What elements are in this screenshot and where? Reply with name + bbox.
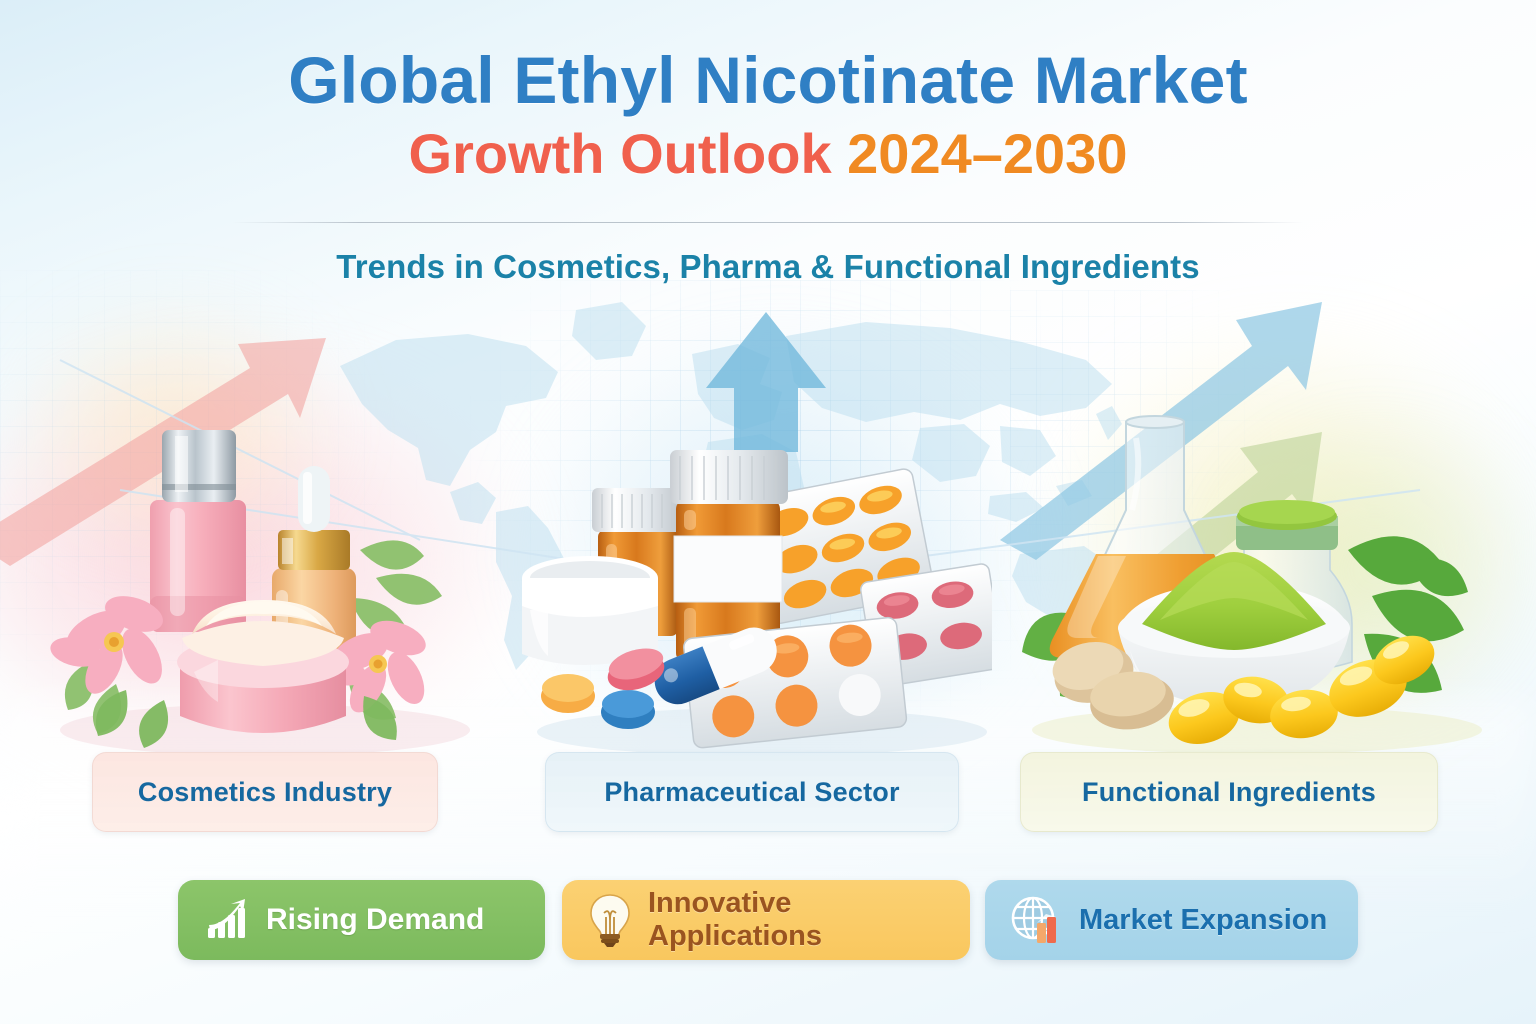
- category-label-text: Pharmaceutical Sector: [604, 777, 899, 808]
- pink-blossom-left: [48, 590, 171, 700]
- header-divider: [232, 222, 1304, 223]
- category-label-text: Functional Ingredients: [1082, 777, 1376, 808]
- page-title: Global Ethyl Nicotinate Market: [0, 0, 1536, 115]
- poster-header: Global Ethyl Nicotinate Market Growth Ou…: [0, 0, 1536, 184]
- pink-pump-bottle: [150, 430, 246, 632]
- badge-market-expansion[interactable]: Market Expansion: [985, 880, 1358, 960]
- category-label-cosmetics[interactable]: Cosmetics Industry: [92, 752, 438, 832]
- badge-label: Market Expansion: [1079, 904, 1327, 937]
- cosmetics-illustration: [30, 400, 490, 760]
- subtitle-year-range: 2024–2030: [847, 122, 1127, 185]
- badge-rising-demand[interactable]: Rising Demand: [178, 880, 545, 960]
- badge-innovative-applications[interactable]: Innovative Applications: [562, 880, 970, 960]
- infographic-poster: Global Ethyl Nicotinate Market Growth Ou…: [0, 0, 1536, 1024]
- badge-label: Innovative Applications: [648, 887, 970, 953]
- badge-label: Rising Demand: [266, 903, 484, 937]
- blue-up-arrow: [706, 312, 826, 452]
- growth-chart-icon: [204, 898, 250, 942]
- globe-chart-icon: [1011, 895, 1063, 945]
- category-label-functional-ingredients[interactable]: Functional Ingredients: [1020, 752, 1438, 832]
- category-label-pharmaceutical[interactable]: Pharmaceutical Sector: [545, 752, 959, 832]
- white-ointment-jar: [522, 556, 658, 665]
- functional-ingredients-illustration: [1012, 412, 1502, 762]
- page-subtitle: Growth Outlook 2024–2030: [0, 125, 1536, 184]
- page-tagline: Trends in Cosmetics, Pharma & Functional…: [0, 248, 1536, 286]
- category-label-text: Cosmetics Industry: [138, 777, 392, 808]
- subtitle-growth-outlook: Growth Outlook: [409, 122, 832, 185]
- pink-cream-jar: [177, 600, 349, 733]
- pharmaceutical-illustration: [512, 432, 992, 762]
- lightbulb-icon: [588, 893, 632, 947]
